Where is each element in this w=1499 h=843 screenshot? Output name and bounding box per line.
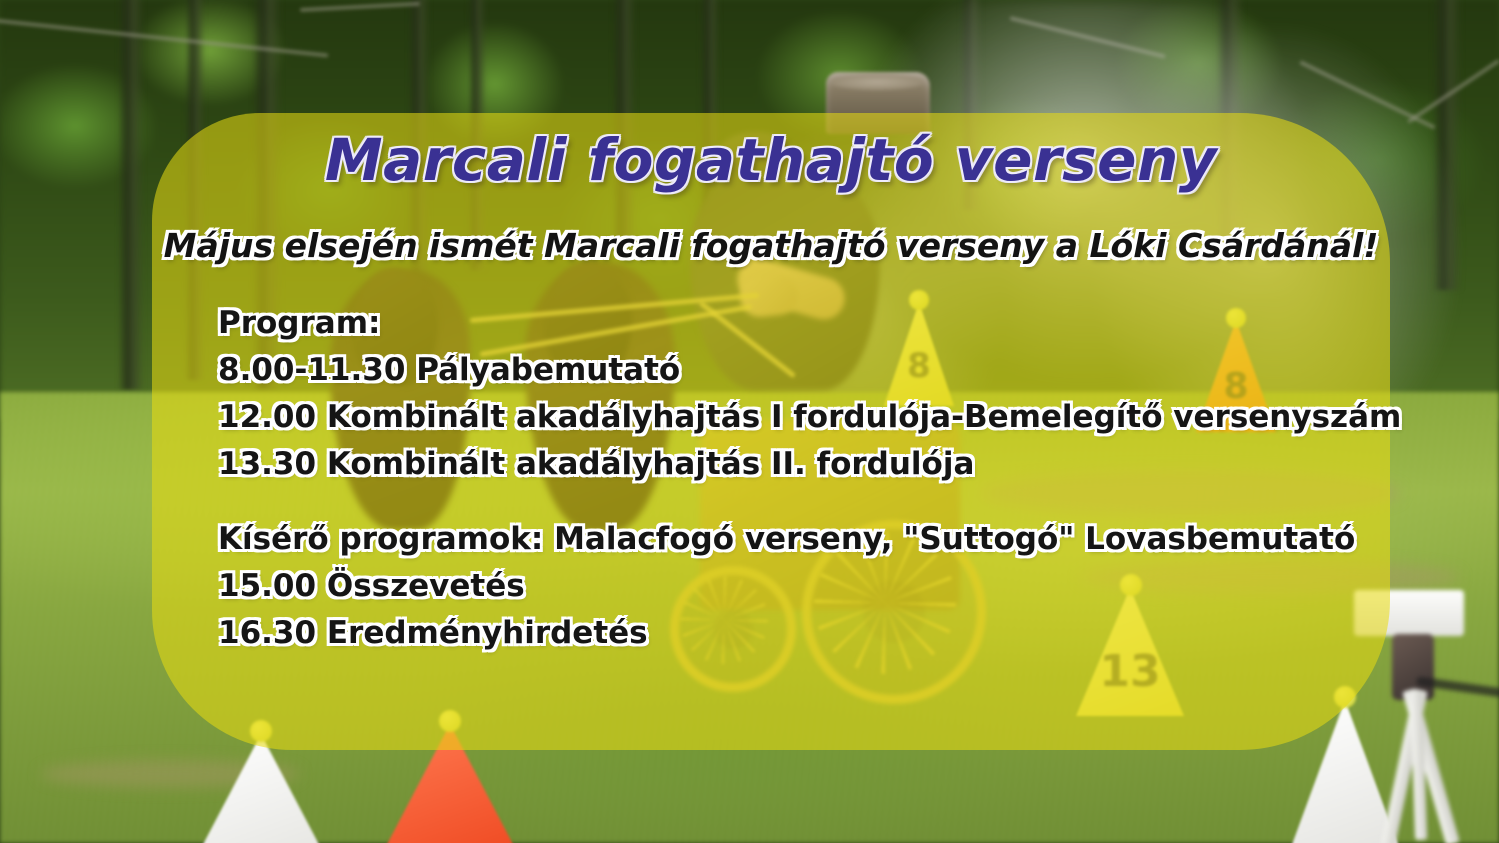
secondary-line: 16.30 Eredményhirdetés [218,610,1368,657]
foreground-cone-white [198,734,324,843]
poster-subtitle: Május elsején ismét Marcali fogathajtó v… [152,226,1390,265]
tripod-leg [1410,690,1427,840]
program-block: Program: 8.00-11.30 Pályabemutató 12.00 … [218,300,1368,657]
poster-title: Marcali fogathajtó verseny [152,126,1390,194]
program-heading: Program: [218,300,1368,347]
program-line: 13.30 Kombinált akadályhajtás II. fordul… [218,441,1368,488]
cone-body [198,734,324,843]
poster-canvas: 8 8 13 [0,0,1499,843]
program-line: 12.00 Kombinált akadályhajtás I fordulój… [218,394,1368,441]
secondary-line: Kísérő programok: Malacfogó verseny, "Su… [218,516,1368,563]
program-spacer [218,488,1368,516]
secondary-line: 15.00 Összevetés [218,563,1368,610]
tree-trunk [118,0,144,390]
program-line: 8.00-11.30 Pályabemutató [218,347,1368,394]
